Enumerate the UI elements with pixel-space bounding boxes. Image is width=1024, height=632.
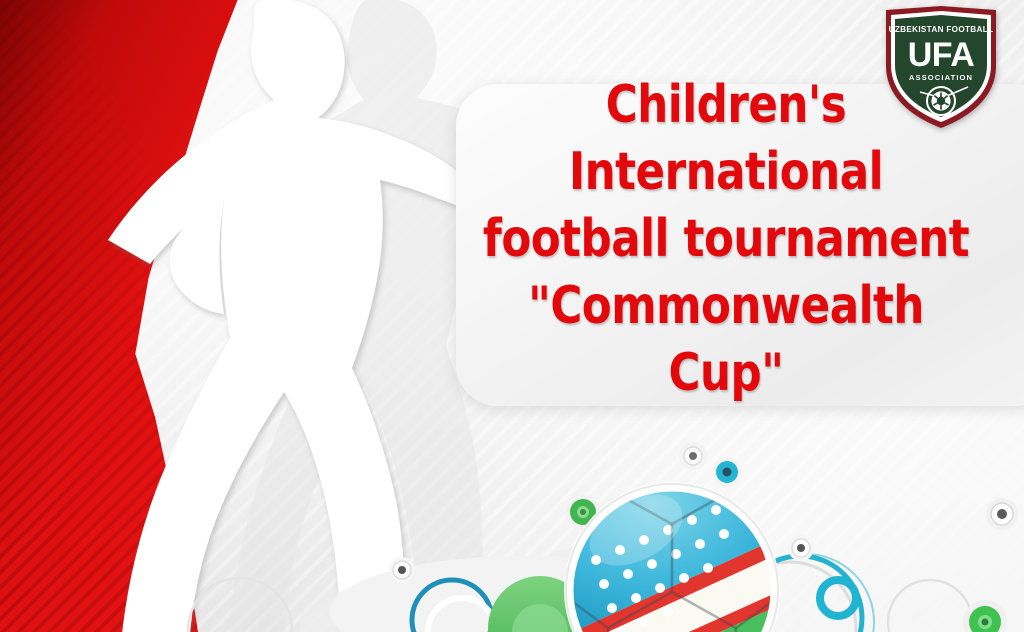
decor-stud-grey-4 (986, 498, 1018, 530)
decor-stud-grey-2 (788, 535, 814, 561)
decor-ring-grey-3 (188, 578, 292, 632)
uzbekistan-flag-soccer-ball (560, 462, 800, 632)
crest-top-text: UZBEKISTAN FOOTBALL (889, 25, 994, 34)
decor-ring-cyan-small (820, 580, 856, 616)
decor-stud-grey-3 (389, 557, 415, 583)
decor-stud-cyan (712, 457, 742, 487)
poster-canvas: Children's International football tourna… (0, 0, 1024, 632)
crest-bottom-text: ASSOCIATION (909, 73, 973, 82)
decor-stud-grey-1 (679, 442, 707, 470)
crest-monogram: UFA (908, 36, 975, 74)
bottom-decoration (0, 432, 1024, 632)
ufa-crest[interactable]: UZBEKISTAN FOOTBALL UFA ASSOCIATION (876, 4, 1006, 130)
decor-ring-grey-2 (888, 580, 972, 632)
